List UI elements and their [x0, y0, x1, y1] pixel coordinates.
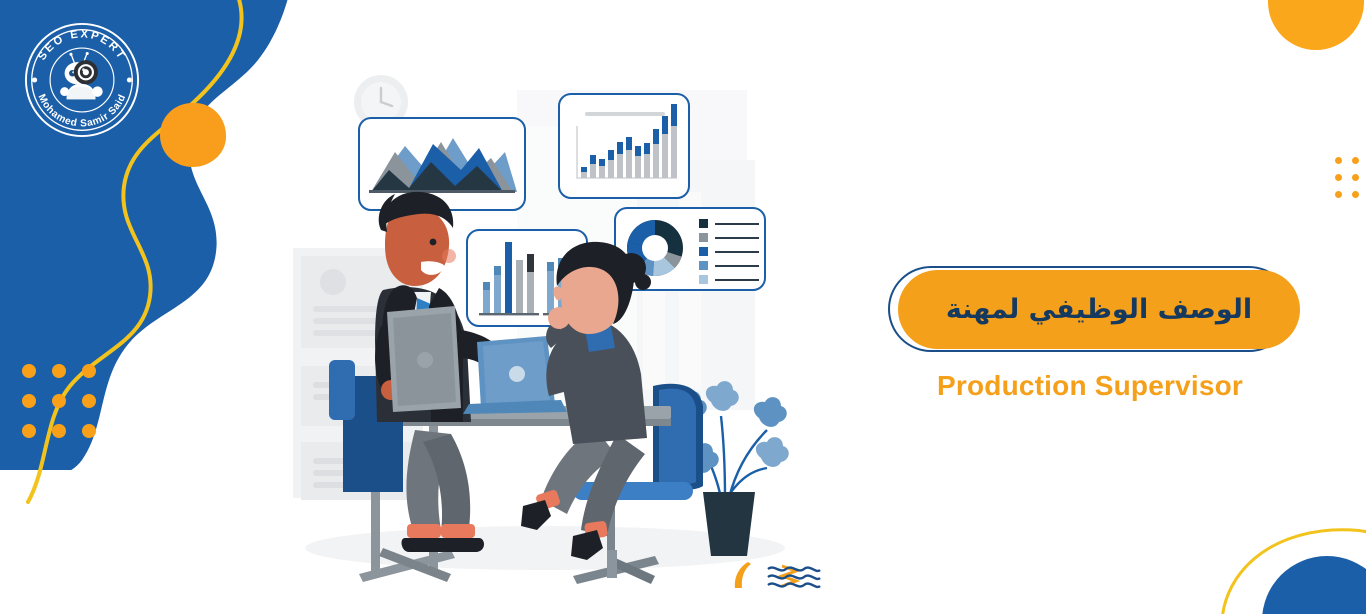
business-meeting-illustration: [255, 30, 815, 590]
mountain-chart-card: [359, 118, 525, 210]
dot-grid-right: [1330, 152, 1366, 203]
blue-circle-decoration-bottomright: [1262, 556, 1366, 614]
growth-bar-chart-card: [559, 94, 689, 198]
brand-logo[interactable]: SEO EXPERT Mohamed Samir Said: [24, 22, 140, 138]
gray-tablet: [387, 306, 461, 412]
card-title-placeholder: [585, 112, 665, 116]
logo-dot-right: [127, 77, 132, 82]
robot-mascot-icon: [60, 52, 103, 99]
pill-body: الوصف الوظيفي لمهنة: [898, 270, 1300, 349]
logo-dot-left: [32, 77, 37, 82]
orange-circle-decoration-left: [160, 103, 226, 167]
orange-circle-decoration-topright: [1268, 0, 1364, 50]
yellow-arc-decoration: [1220, 520, 1366, 614]
job-description-pill: الوصف الوظيفي لمهنة: [888, 266, 1300, 354]
poster-canvas: SEO EXPERT Mohamed Samir Said: [0, 0, 1366, 614]
job-title: Production Supervisor: [888, 370, 1292, 402]
pill-label: الوصف الوظيفي لمهنة: [946, 296, 1252, 323]
eye: [430, 239, 437, 246]
dot-grid-left: [14, 356, 104, 446]
headline-block: الوصف الوظيفي لمهنة Production Superviso…: [888, 266, 1308, 402]
high-heel-left: [521, 500, 551, 530]
